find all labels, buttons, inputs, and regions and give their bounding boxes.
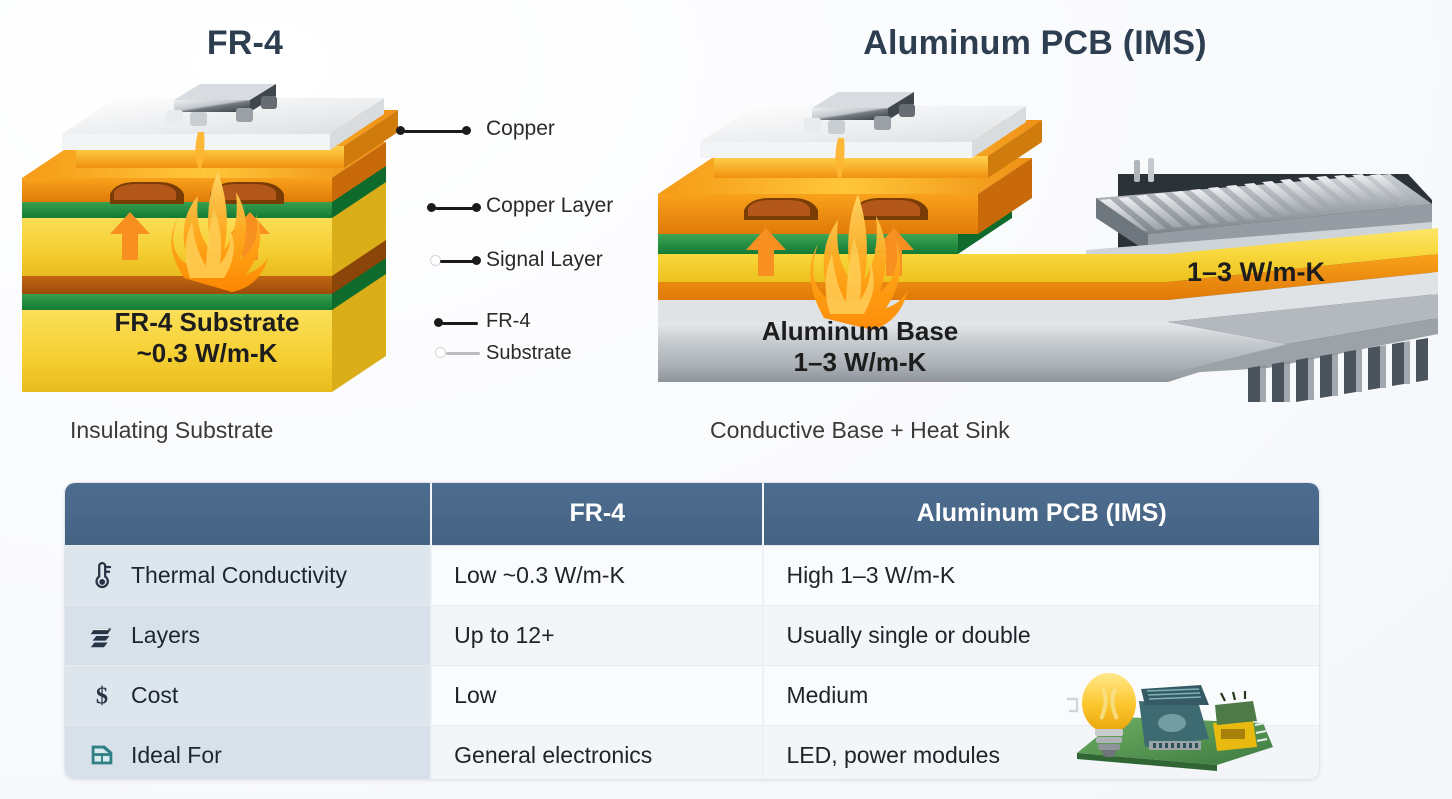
aluminum-caption: Conductive Base + Heat Sink xyxy=(710,417,1010,444)
table-row: Layers Up to 12+ Usually single or doubl… xyxy=(65,605,1319,665)
fr4-pcb-illustration: FR-4 Substrate ~0.3 W/m-K xyxy=(14,82,434,402)
fr4-caption: Insulating Substrate xyxy=(70,417,273,444)
dollar-icon: $ xyxy=(87,680,117,710)
table-feature-label: Ideal For xyxy=(131,742,222,769)
table-header-blank xyxy=(65,483,431,545)
layers-icon xyxy=(87,620,117,650)
table-row: Thermal Conductivity Low ~0.3 W/m-K High… xyxy=(65,545,1319,605)
callout-label-copper-layer: Copper Layer xyxy=(486,194,613,218)
callout-label-signal-layer: Signal Layer xyxy=(486,248,603,272)
table-row: Ideal For General electronics LED, power… xyxy=(65,725,1319,780)
table-cell-aluminum: LED, power modules xyxy=(763,725,1319,780)
fr4-substrate-label-line1: FR-4 Substrate xyxy=(115,307,300,337)
table-header-aluminum: Aluminum PCB (IMS) xyxy=(763,483,1319,545)
aluminum-dielectric-label: 1–3 W/m-K xyxy=(1156,257,1356,289)
callout-label-fr4: FR-4 xyxy=(486,310,530,333)
table-cell-fr4: Up to 12+ xyxy=(431,605,763,665)
table-cell-feature: $ Cost xyxy=(65,665,431,725)
illustration-panels: FR-4 Aluminum PCB (IMS) xyxy=(0,0,1452,470)
comparison-table: FR-4 Aluminum PCB (IMS) xyxy=(64,482,1320,780)
aluminum-base-label-line1: Aluminum Base xyxy=(762,316,959,346)
comparison-table-grid: FR-4 Aluminum PCB (IMS) xyxy=(65,483,1319,780)
table-cell-feature: Layers xyxy=(65,605,431,665)
aluminum-pcb-illustration: 1–3 W/m-K Aluminum Base 1–3 W/m-K xyxy=(648,82,1438,402)
table-cell-feature: Ideal For xyxy=(65,725,431,780)
svg-text:$: $ xyxy=(96,682,108,709)
table-cell-aluminum: High 1–3 W/m-K xyxy=(763,545,1319,605)
fr4-substrate-label: FR-4 Substrate ~0.3 W/m-K xyxy=(92,307,322,368)
table-feature-label: Cost xyxy=(131,682,178,709)
table-cell-feature: Thermal Conductivity xyxy=(65,545,431,605)
thermometer-icon xyxy=(87,560,117,590)
table-row: $ Cost Low Medium xyxy=(65,665,1319,725)
table-cell-fr4: Low ~0.3 W/m-K xyxy=(431,545,763,605)
fr4-substrate-label-line2: ~0.3 W/m-K xyxy=(137,338,278,368)
table-cell-fr4: Low xyxy=(431,665,763,725)
aluminum-base-label-line2: 1–3 W/m-K xyxy=(794,347,927,377)
callout-label-substrate: Substrate xyxy=(486,342,572,365)
table-feature-label: Thermal Conductivity xyxy=(131,562,347,589)
table-header-fr4: FR-4 xyxy=(431,483,763,545)
table-cell-aluminum: Usually single or double xyxy=(763,605,1319,665)
callout-label-copper: Copper xyxy=(486,117,555,141)
table-cell-fr4: General electronics xyxy=(431,725,763,780)
aluminum-panel-title: Aluminum PCB (IMS) xyxy=(790,24,1280,63)
chip-board-icon xyxy=(87,740,117,770)
table-feature-label: Layers xyxy=(131,622,200,649)
table-cell-aluminum: Medium xyxy=(763,665,1319,725)
aluminum-base-label: Aluminum Base 1–3 W/m-K xyxy=(730,316,990,377)
table-header-row: FR-4 Aluminum PCB (IMS) xyxy=(65,483,1319,545)
fr4-panel-title: FR-4 xyxy=(110,24,380,63)
